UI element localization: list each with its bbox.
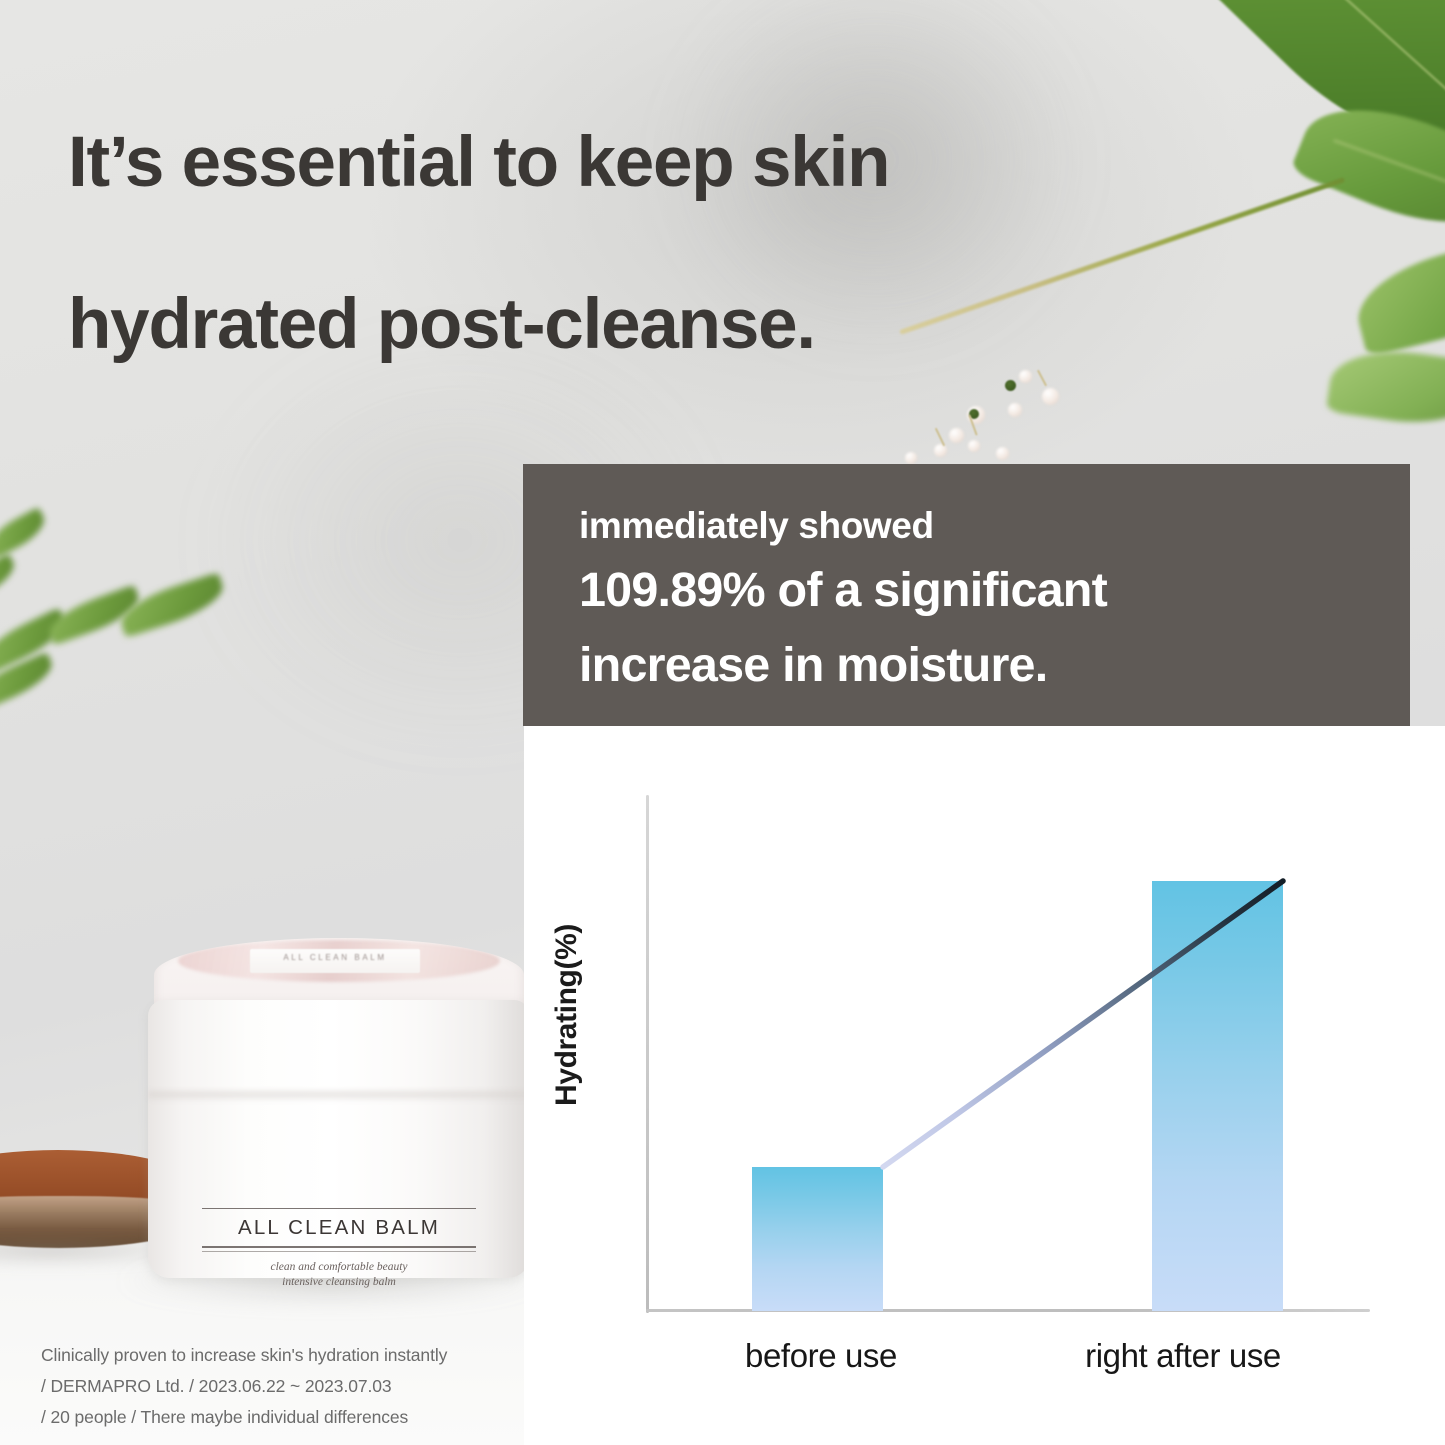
product-tagline-line1: clean and comfortable beauty [202, 1260, 476, 1275]
headline-line-2: hydrated post-cleanse. [68, 244, 1208, 406]
product-tagline: clean and comfortable beauty intensive c… [202, 1251, 476, 1290]
product-jar: ALL CLEAN BALM ALL CLEAN BALM clean and … [148, 938, 530, 1278]
footnote-line-2: / DERMAPRO Ltd. / 2023.06.22 ~ 2023.07.0… [41, 1371, 541, 1402]
flower-bud-icon [996, 447, 1009, 460]
claim-line-1: immediately showed [579, 500, 1410, 552]
label-rule-bottom [202, 1246, 476, 1247]
footnote-line-1: Clinically proven to increase skin's hyd… [41, 1340, 541, 1371]
footnote-line-3: / 20 people / There maybe individual dif… [41, 1402, 541, 1433]
category-label-before: before use [646, 1337, 996, 1375]
label-rule-bottom-thin [202, 1251, 476, 1252]
claim-line-2: 109.89% of a significant [579, 552, 1410, 629]
clinical-footnote: Clinically proven to increase skin's hyd… [41, 1340, 541, 1433]
bar-right-after-use [1152, 881, 1283, 1311]
product-name: ALL CLEAN BALM [202, 1209, 476, 1246]
headline-line-1: It’s essential to keep skin [68, 82, 1208, 244]
headline: It’s essential to keep skin hydrated pos… [68, 82, 1208, 406]
y-axis-label: Hydrating(%) [550, 880, 584, 1150]
lid-label-text: ALL CLEAN BALM [254, 953, 416, 962]
jar-front-label: ALL CLEAN BALM clean and comfortable bea… [202, 1208, 476, 1290]
y-axis-line [646, 795, 649, 1313]
label-rule-top [202, 1208, 476, 1209]
product-tagline-line2: intensive cleansing balm [202, 1275, 476, 1290]
flower-bud-icon [949, 428, 964, 443]
hydration-chart: Hydrating(%) before use right after use [524, 726, 1445, 1445]
jar-seam [148, 1088, 530, 1102]
flower-bud-icon [934, 444, 947, 457]
bar-before-use [752, 1167, 883, 1311]
category-label-after: right after use [996, 1337, 1370, 1375]
jar-body: ALL CLEAN BALM clean and comfortable bea… [148, 1000, 530, 1278]
flower-bud-icon [905, 452, 917, 464]
promo-canvas: ALL CLEAN BALM ALL CLEAN BALM clean and … [0, 0, 1445, 1445]
flower-bud-icon [968, 440, 980, 452]
leaf-vein [1334, 139, 1445, 194]
claim-line-3: increase in moisture. [579, 629, 1410, 701]
claim-callout: immediately showed 109.89% of a signific… [523, 464, 1410, 726]
x-axis-categories: before use right after use [646, 1337, 1370, 1375]
